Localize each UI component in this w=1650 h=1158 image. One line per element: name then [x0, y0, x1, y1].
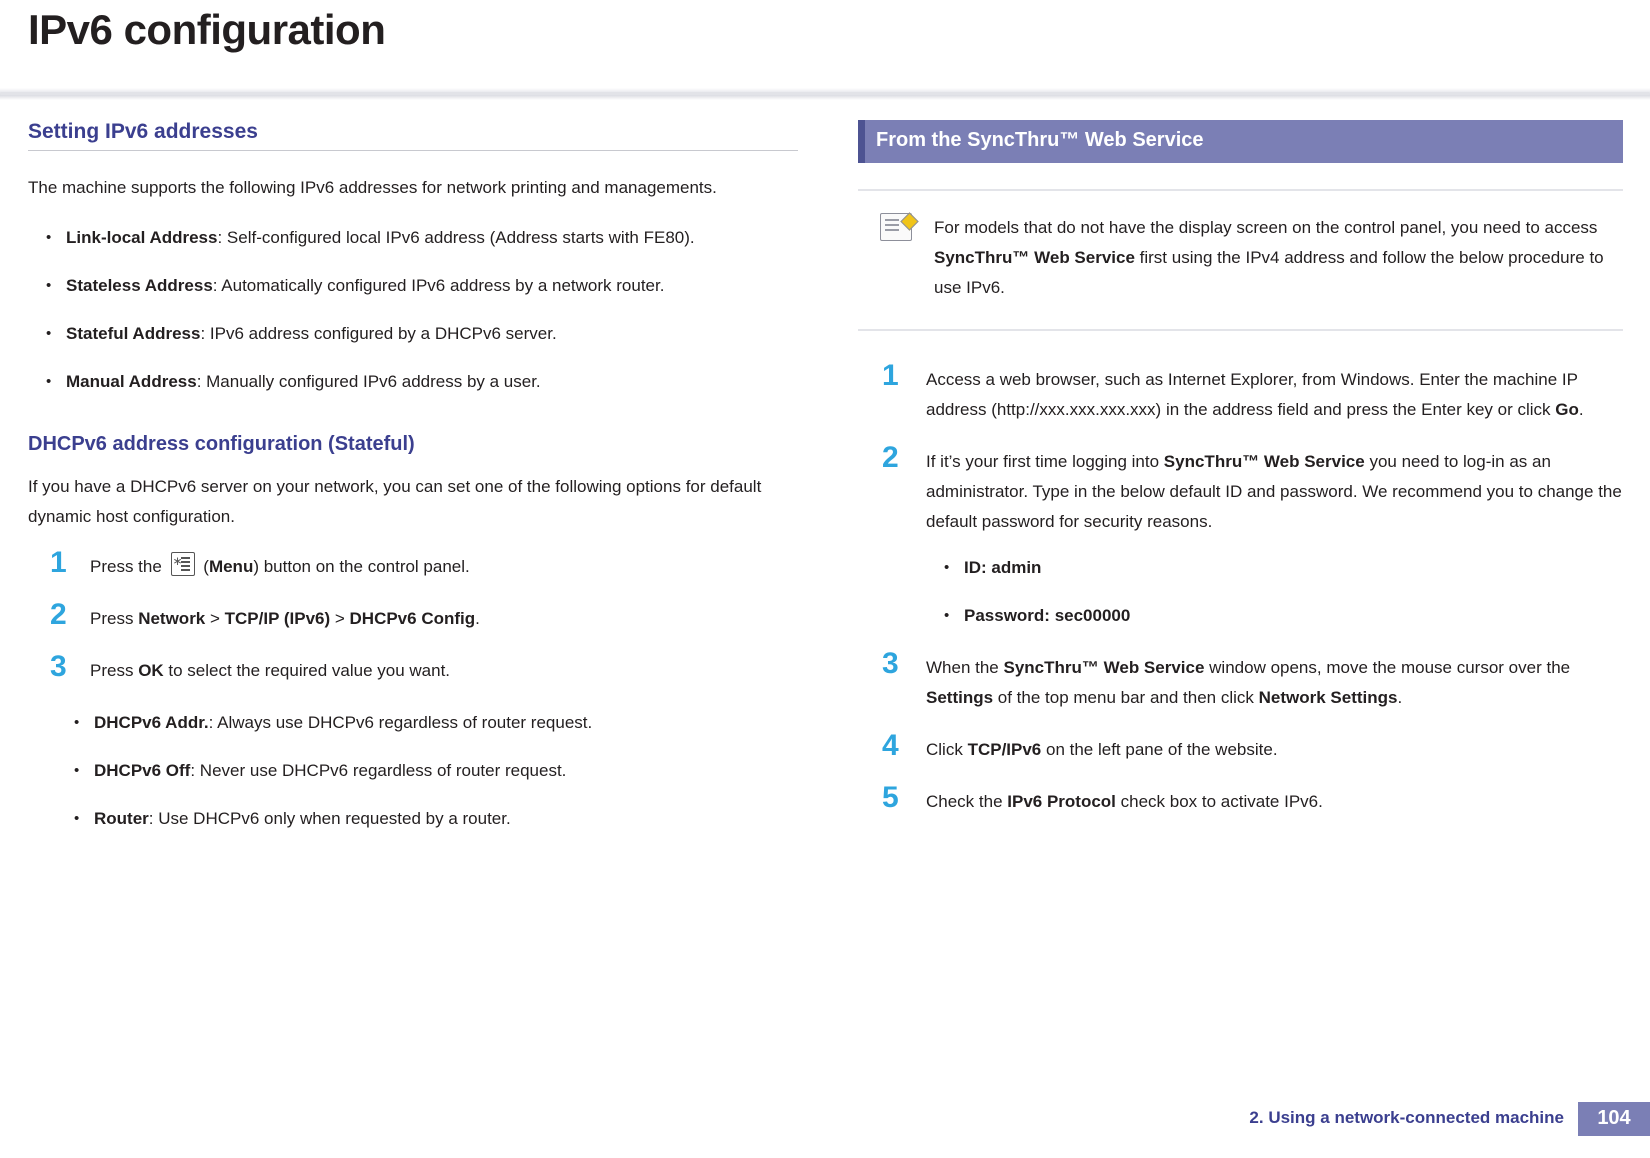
list-item: ID: admin	[926, 553, 1623, 583]
left-steps-list: 1 Press the (Menu) button on the control…	[28, 552, 798, 686]
bar-accent-tick	[858, 120, 865, 163]
step-1: 1 Access a web browser, such as Internet…	[858, 365, 1623, 425]
step-2-b5: DHCPv6 Config	[350, 609, 476, 628]
step-1: 1 Press the (Menu) button on the control…	[28, 552, 798, 582]
step-1-bold1: Go	[1555, 400, 1579, 419]
section-bar-heading-syncthru: From the SyncThru™ Web Service	[858, 120, 1623, 163]
step-4-part1: Click	[926, 740, 968, 759]
step-3-part2: window opens, move the mouse cursor over…	[1204, 658, 1570, 677]
address-types-list: Link-local Address: Self-configured loca…	[28, 223, 798, 397]
step-number: 1	[50, 548, 67, 578]
step-number: 2	[50, 600, 67, 630]
step-number: 5	[882, 783, 899, 813]
note-box: For models that do not have the display …	[858, 189, 1623, 331]
left-column: Setting IPv6 addresses The machine suppo…	[28, 120, 798, 852]
desc-manual: : Manually configured IPv6 address by a …	[197, 372, 541, 391]
step-2-part1: If it’s your first time logging into	[926, 452, 1164, 471]
list-item: Link-local Address: Self-configured loca…	[28, 223, 798, 253]
step-3-bold3: Network Settings	[1259, 688, 1398, 707]
step-4-part2: on the left pane of the website.	[1041, 740, 1277, 759]
step-3-b1: OK	[138, 661, 164, 680]
step-1-bold: Menu	[209, 557, 253, 576]
note-part1: For models that do not have the display …	[934, 218, 1597, 237]
step-number: 3	[50, 652, 67, 682]
step-number: 1	[882, 361, 899, 391]
footer-page-number: 104	[1578, 1102, 1650, 1136]
note-bold1: SyncThru™ Web Service	[934, 248, 1135, 267]
step-2: 2 If it’s your first time logging into S…	[858, 447, 1623, 631]
step-number: 2	[882, 443, 899, 473]
section-heading-setting-ipv6: Setting IPv6 addresses	[28, 120, 798, 144]
term-manual: Manual Address	[66, 372, 197, 391]
step-number: 3	[882, 649, 899, 679]
desc-dhcpv6-off: : Never use DHCPv6 regardless of router …	[190, 761, 566, 780]
step-number: 4	[882, 731, 899, 761]
term-stateful: Stateful Address	[66, 324, 200, 343]
step-1-part2: .	[1579, 400, 1584, 419]
term-dhcpv6-addr: DHCPv6 Addr.	[94, 713, 209, 732]
step-4: 4 Click TCP/IPv6 on the left pane of the…	[858, 735, 1623, 765]
step-5-bold1: IPv6 Protocol	[1007, 792, 1116, 811]
right-column: From the SyncThru™ Web Service For model…	[858, 120, 1623, 839]
term-router: Router	[94, 809, 149, 828]
intro-paragraph: The machine supports the following IPv6 …	[28, 173, 798, 203]
bar-heading-label: From the SyncThru™ Web Service	[876, 129, 1204, 151]
step-2-bold1: SyncThru™ Web Service	[1164, 452, 1365, 471]
desc-router: : Use DHCPv6 only when requested by a ro…	[149, 809, 511, 828]
note-pencil-icon	[880, 213, 912, 241]
title-divider	[0, 88, 1650, 100]
step-4-bold1: TCP/IPv6	[968, 740, 1042, 759]
step-5: 5 Check the IPv6 Protocol check box to a…	[858, 787, 1623, 817]
step-2-b1: Network	[138, 609, 205, 628]
step-3-p2: to select the required value you want.	[164, 661, 450, 680]
dhcpv6-options-list: DHCPv6 Addr.: Always use DHCPv6 regardle…	[28, 708, 798, 834]
term-link-local: Link-local Address	[66, 228, 217, 247]
term-dhcpv6-off: DHCPv6 Off	[94, 761, 190, 780]
step-3-bold1: SyncThru™ Web Service	[1004, 658, 1205, 677]
page-footer: 2. Using a network-connected machine 104	[1249, 1102, 1650, 1136]
step-3-part1: When the	[926, 658, 1004, 677]
step-3-p0: Press	[90, 661, 138, 680]
list-item: Stateless Address: Automatically configu…	[28, 271, 798, 301]
step-3-bold2: Settings	[926, 688, 993, 707]
list-item: DHCPv6 Off: Never use DHCPv6 regardless …	[28, 756, 798, 786]
page-title: IPv6 configuration	[28, 6, 385, 54]
list-item: Manual Address: Manually configured IPv6…	[28, 367, 798, 397]
step-2-p2: >	[205, 609, 224, 628]
menu-icon	[171, 552, 195, 576]
credential-id: ID: admin	[964, 558, 1041, 577]
step-5-part2: check box to activate IPv6.	[1116, 792, 1323, 811]
subsection-heading-dhcpv6: DHCPv6 address configuration (Stateful)	[28, 433, 798, 456]
right-steps-list: 1 Access a web browser, such as Internet…	[858, 365, 1623, 817]
section-heading-rule	[28, 150, 798, 151]
step-2: 2 Press Network > TCP/IP (IPv6) > DHCPv6…	[28, 604, 798, 634]
step-1-mid: (	[199, 557, 209, 576]
step-2-p4: >	[330, 609, 349, 628]
step-2-p0: Press	[90, 609, 138, 628]
step-2-b3: TCP/IP (IPv6)	[225, 609, 331, 628]
step-3: 3 When the SyncThru™ Web Service window …	[858, 653, 1623, 713]
desc-dhcpv6-addr: : Always use DHCPv6 regardless of router…	[209, 713, 593, 732]
list-item: Password: sec00000	[926, 601, 1623, 631]
step-1-pre: Press the	[90, 557, 167, 576]
list-item: Stateful Address: IPv6 address configure…	[28, 319, 798, 349]
dhcpv6-intro-paragraph: If you have a DHCPv6 server on your netw…	[28, 472, 798, 532]
footer-chapter-label: 2. Using a network-connected machine	[1249, 1102, 1578, 1136]
credentials-list: ID: admin Password: sec00000	[926, 553, 1623, 631]
step-3-part3: of the top menu bar and then click	[993, 688, 1259, 707]
document-page: IPv6 configuration Setting IPv6 addresse…	[0, 0, 1650, 1158]
desc-link-local: : Self-configured local IPv6 address (Ad…	[217, 228, 694, 247]
step-1-post: ) button on the control panel.	[253, 557, 469, 576]
step-3: 3 Press OK to select the required value …	[28, 656, 798, 686]
list-item: DHCPv6 Addr.: Always use DHCPv6 regardle…	[28, 708, 798, 738]
step-2-p6: .	[475, 609, 480, 628]
list-item: Router: Use DHCPv6 only when requested b…	[28, 804, 798, 834]
step-5-part1: Check the	[926, 792, 1007, 811]
term-stateless: Stateless Address	[66, 276, 213, 295]
step-3-part4: .	[1397, 688, 1402, 707]
step-1-part1: Access a web browser, such as Internet E…	[926, 370, 1578, 419]
desc-stateless: : Automatically configured IPv6 address …	[213, 276, 665, 295]
desc-stateful: : IPv6 address configured by a DHCPv6 se…	[200, 324, 556, 343]
credential-password: Password: sec00000	[964, 606, 1130, 625]
